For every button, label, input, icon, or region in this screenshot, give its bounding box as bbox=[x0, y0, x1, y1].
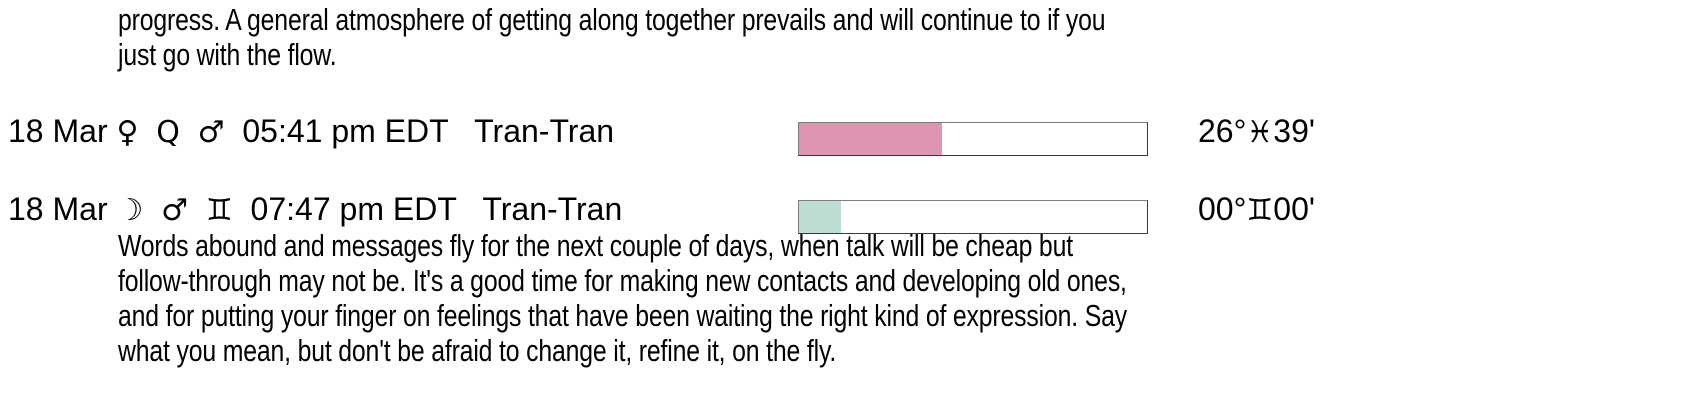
transit-position-degrees: 00° bbox=[1198, 191, 1246, 227]
intro-paragraph-line-1: progress. A general atmosphere of gettin… bbox=[118, 2, 1105, 37]
transit-progress-fill bbox=[799, 123, 942, 155]
closing-paragraph-line-3: and for putting your finger on feelings … bbox=[118, 298, 1127, 333]
transit-type: Tran-Tran bbox=[474, 113, 614, 149]
transit-row-label: 18 Mar ♀ Q ♂ 05:41 pm EDT Tran-Tran bbox=[8, 106, 614, 156]
transit-position-degrees: 26° bbox=[1198, 113, 1246, 149]
mars-icon: ♂ bbox=[198, 115, 225, 150]
transit-time: 05:41 pm bbox=[242, 113, 375, 149]
closing-paragraph-line-2: follow-through may not be. It's a good t… bbox=[118, 263, 1127, 298]
transit-time: 07:47 pm bbox=[251, 191, 384, 227]
transit-row-label: 18 Mar ☽ ♂ ♊ 07:47 pm EDT Tran-Tran bbox=[8, 184, 622, 234]
closing-paragraph-line-4: what you mean, but don't be afraid to ch… bbox=[118, 333, 836, 368]
moon-icon: ☽ bbox=[116, 193, 143, 228]
conjunction-aspect-icon: ♂ bbox=[161, 193, 188, 228]
intro-paragraph-line-2: just go with the flow. bbox=[118, 37, 336, 72]
transit-report-page: progress. A general atmosphere of gettin… bbox=[0, 0, 1686, 414]
venus-icon: ♀ bbox=[116, 115, 138, 150]
gemini-icon: ♊ bbox=[206, 193, 233, 228]
pisces-icon: ♓ bbox=[1246, 115, 1273, 150]
closing-paragraph: Words abound and messages fly for the ne… bbox=[118, 228, 1127, 368]
transit-timezone: EDT bbox=[385, 113, 448, 149]
transit-position-minutes: 39' bbox=[1273, 113, 1315, 149]
transit-position-minutes: 00' bbox=[1273, 191, 1315, 227]
transit-position: 26°♓39' bbox=[1198, 106, 1315, 156]
intro-paragraph: progress. A general atmosphere of gettin… bbox=[118, 2, 1105, 72]
quincunx-aspect-icon: Q bbox=[156, 115, 180, 150]
transit-position: 00°♊00' bbox=[1198, 184, 1315, 234]
transit-date: 18 Mar bbox=[8, 191, 108, 227]
transit-row[interactable]: 18 Mar ♀ Q ♂ 05:41 pm EDT Tran-Tran 26°♓… bbox=[0, 106, 1686, 162]
transit-type: Tran-Tran bbox=[482, 191, 622, 227]
transit-date: 18 Mar bbox=[8, 113, 108, 149]
gemini-icon: ♊ bbox=[1246, 193, 1273, 228]
transit-timezone: EDT bbox=[393, 191, 456, 227]
closing-paragraph-line-1: Words abound and messages fly for the ne… bbox=[118, 228, 1073, 263]
transit-progress-bar[interactable] bbox=[798, 122, 1148, 156]
